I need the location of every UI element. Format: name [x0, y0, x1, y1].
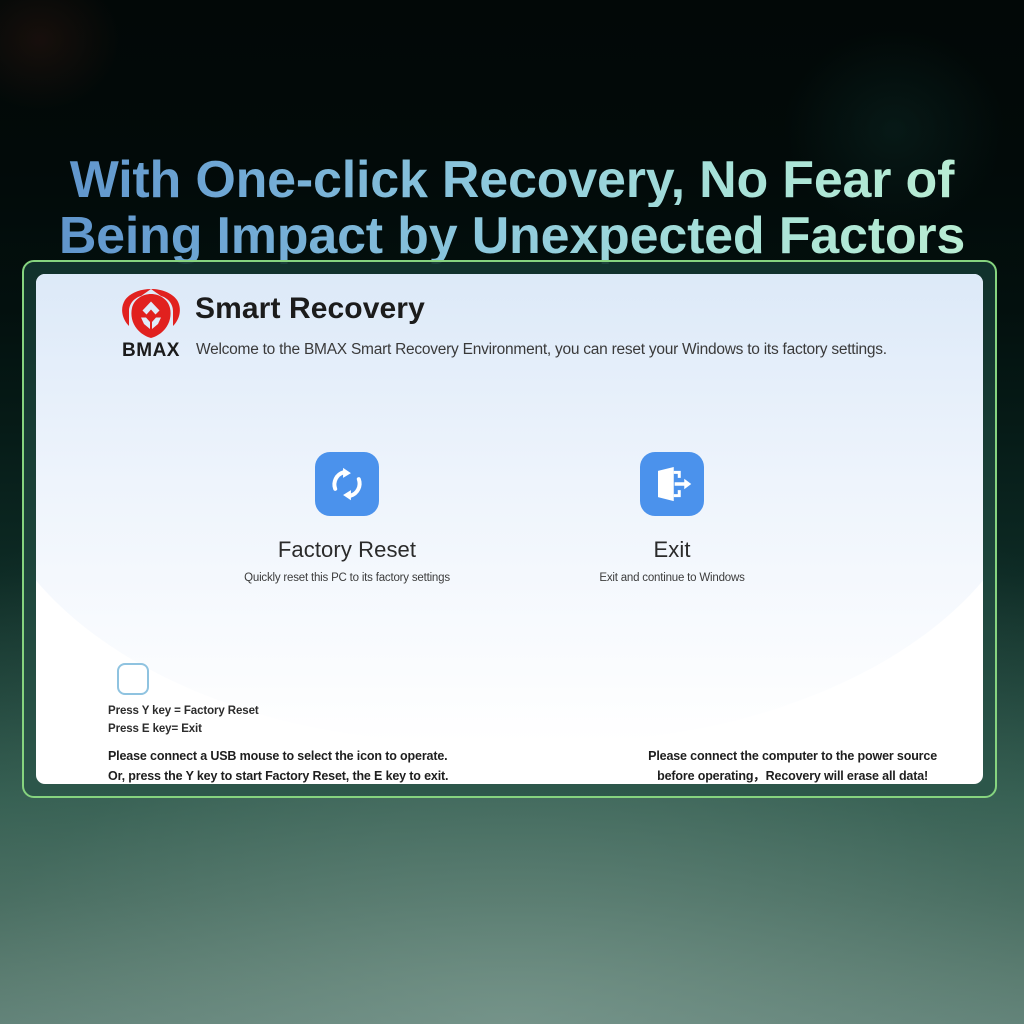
factory-reset-label: Factory Reset: [197, 537, 497, 563]
page-background: With One-click Recovery, No Fear of Bein…: [0, 0, 1024, 1024]
selection-indicator-box[interactable]: [117, 663, 149, 695]
exit-icon-glyph: [651, 463, 693, 505]
app-title: Smart Recovery: [195, 292, 425, 326]
exit-description: Exit and continue to Windows: [522, 572, 822, 584]
factory-reset-button[interactable]: Factory Reset Quickly reset this PC to i…: [197, 452, 497, 584]
action-tiles: Factory Reset Quickly reset this PC to i…: [36, 452, 983, 612]
exit-door-arrow-icon[interactable]: [640, 452, 704, 516]
bmax-wordmark: BMAX: [112, 341, 190, 360]
keyboard-hints: Press Y key = Factory Reset Press E key=…: [108, 703, 259, 739]
key-hint-factory-reset: Press Y key = Factory Reset: [108, 703, 259, 721]
welcome-message: Welcome to the BMAX Smart Recovery Envir…: [196, 341, 887, 359]
app-header: BMAX Smart Recovery Welcome to the BMAX …: [36, 274, 983, 384]
recovery-app-window: BMAX Smart Recovery Welcome to the BMAX …: [36, 274, 983, 784]
footer-right-line-2: before operating，Recovery will erase all…: [648, 766, 937, 784]
footer-left-line-1: Please connect a USB mouse to select the…: [108, 746, 448, 766]
footer-warning-right: Please connect the computer to the power…: [648, 746, 937, 784]
key-hint-exit: Press E key= Exit: [108, 721, 259, 739]
background-blotch-left: [0, 0, 120, 110]
footer-left-line-2: Or, press the Y key to start Factory Res…: [108, 766, 448, 784]
footer-right-line-1: Please connect the computer to the power…: [648, 746, 937, 766]
refresh-circular-arrows-icon[interactable]: [315, 452, 379, 516]
footer-instructions-left: Please connect a USB mouse to select the…: [108, 746, 448, 784]
page-headline: With One-click Recovery, No Fear of Bein…: [0, 153, 1024, 264]
recovery-screen-frame: BMAX Smart Recovery Welcome to the BMAX …: [22, 260, 997, 798]
refresh-icon-glyph: [326, 463, 368, 505]
factory-reset-description: Quickly reset this PC to its factory set…: [197, 572, 497, 584]
bmax-beast-head-icon: [120, 288, 182, 340]
exit-button[interactable]: Exit Exit and continue to Windows: [522, 452, 822, 584]
exit-label: Exit: [522, 537, 822, 563]
bmax-logo: BMAX: [112, 288, 190, 360]
headline-line-2: Being Impact by Unexpected Factors: [0, 209, 1024, 264]
headline-line-1: With One-click Recovery, No Fear of: [0, 153, 1024, 208]
